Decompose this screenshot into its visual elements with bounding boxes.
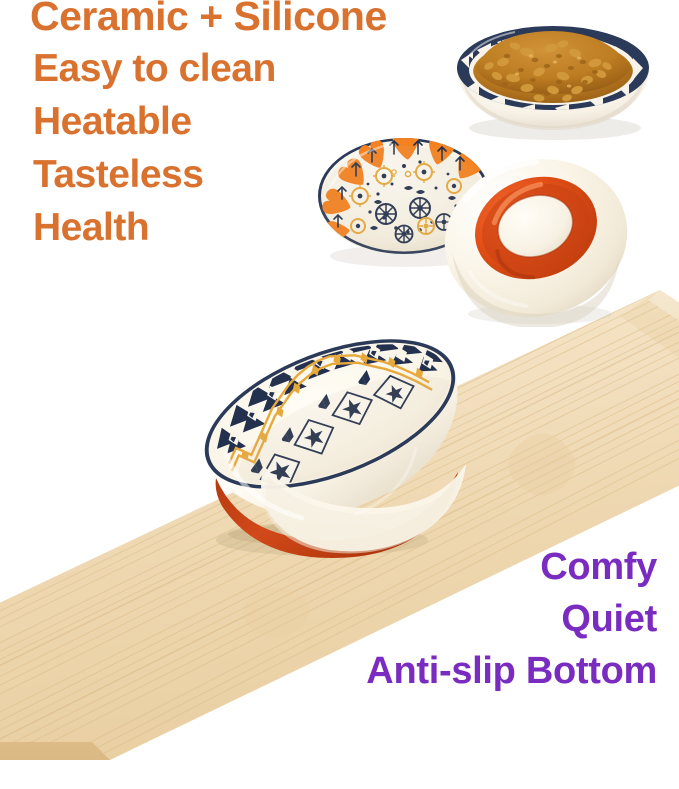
feature-line-4: Tasteless [33, 155, 387, 194]
food-bowl-with-kibble [443, 10, 663, 145]
claim-line-1: Comfy [366, 548, 657, 586]
flipped-bowl-silicone-ring [436, 152, 636, 327]
claim-line-2: Quiet [366, 600, 657, 638]
product-image-canvas: Ceramic + Silicone Easy to clean Heatabl… [0, 0, 679, 789]
feature-text-block: Ceramic + Silicone Easy to clean Heatabl… [30, 0, 387, 247]
claim-text-block: Comfy Quiet Anti-slip Bottom [366, 548, 657, 690]
feature-line-2: Easy to clean [33, 49, 387, 88]
main-bowl-on-board [172, 328, 492, 578]
feature-line-3: Heatable [33, 102, 387, 141]
claim-line-3: Anti-slip Bottom [366, 652, 657, 690]
feature-line-5: Health [33, 208, 387, 247]
feature-line-1: Ceramic + Silicone [30, 0, 387, 37]
